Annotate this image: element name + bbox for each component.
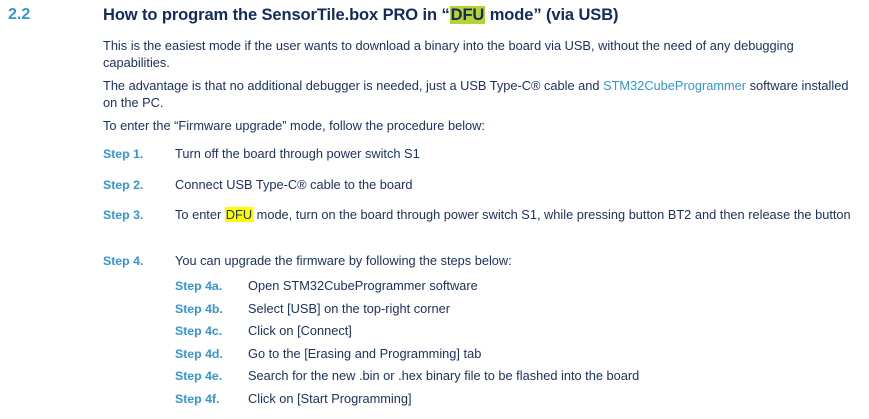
substep-label: Step 4c. bbox=[175, 323, 222, 340]
substep-item: Step 4a. Open STM32CubeProgrammer softwa… bbox=[175, 278, 865, 295]
substep-item: Step 4e. Search for the new .bin or .hex… bbox=[175, 368, 865, 385]
step-text: To enter DFU mode, turn on the board thr… bbox=[175, 207, 859, 224]
step-label: Step 3. bbox=[103, 207, 143, 224]
substep-text: Click on [Connect] bbox=[248, 323, 865, 340]
substep-label: Step 4f. bbox=[175, 391, 219, 408]
substep-item: Step 4b. Select [USB] on the top-right c… bbox=[175, 301, 865, 318]
step3-highlight-dfu: DFU bbox=[225, 207, 253, 222]
step-label: Step 1. bbox=[103, 146, 143, 163]
substep-text: Go to the [Erasing and Programming] tab bbox=[248, 346, 865, 363]
substep-text: Open STM32CubeProgrammer software bbox=[248, 278, 865, 295]
substep-text: Search for the new .bin or .hex binary f… bbox=[248, 368, 865, 385]
step-label: Step 4. bbox=[103, 253, 143, 270]
paragraph-procedure-intro: To enter the “Firmware upgrade” mode, fo… bbox=[103, 118, 859, 135]
substep-text: Click on [Start Programming] bbox=[248, 391, 865, 408]
paragraph-advantage: The advantage is that no additional debu… bbox=[103, 78, 859, 111]
heading-text-after: mode” (via USB) bbox=[485, 6, 618, 24]
substep-item: Step 4d. Go to the [Erasing and Programm… bbox=[175, 346, 865, 363]
section-heading: 2.2 How to program the SensorTile.box PR… bbox=[0, 6, 869, 30]
step-text: You can upgrade the firmware by followin… bbox=[175, 253, 859, 270]
step3-text-after: mode, turn on the board through power sw… bbox=[253, 207, 851, 222]
step-item: Step 2. Connect USB Type-C® cable to the… bbox=[103, 177, 859, 194]
step-item: Step 4. You can upgrade the firmware by … bbox=[103, 253, 859, 270]
stm32cubeprogrammer-link[interactable]: STM32CubeProgrammer bbox=[603, 78, 746, 93]
step-item: Step 3. To enter DFU mode, turn on the b… bbox=[103, 207, 859, 224]
step-item: Step 1. Turn off the board through power… bbox=[103, 146, 859, 163]
step-text: Connect USB Type-C® cable to the board bbox=[175, 177, 859, 194]
substep-text: Select [USB] on the top-right corner bbox=[248, 301, 865, 318]
step-text: Turn off the board through power switch … bbox=[175, 146, 859, 163]
substep-label: Step 4e. bbox=[175, 368, 222, 385]
substep-label: Step 4d. bbox=[175, 346, 223, 363]
paragraph-advantage-before: The advantage is that no additional debu… bbox=[103, 78, 603, 93]
step3-text-before: To enter bbox=[175, 207, 225, 222]
page-title: How to program the SensorTile.box PRO in… bbox=[103, 6, 618, 25]
section-number: 2.2 bbox=[8, 6, 30, 24]
heading-text-before: How to program the SensorTile.box PRO in… bbox=[103, 6, 450, 24]
heading-highlight-dfu: DFU bbox=[450, 6, 486, 24]
substep-item: Step 4c. Click on [Connect] bbox=[175, 323, 865, 340]
substep-label: Step 4b. bbox=[175, 301, 223, 318]
paragraph-intro: This is the easiest mode if the user wan… bbox=[103, 38, 859, 71]
substep-item: Step 4f. Click on [Start Programming] bbox=[175, 391, 865, 408]
step-label: Step 2. bbox=[103, 177, 143, 194]
substep-label: Step 4a. bbox=[175, 278, 222, 295]
